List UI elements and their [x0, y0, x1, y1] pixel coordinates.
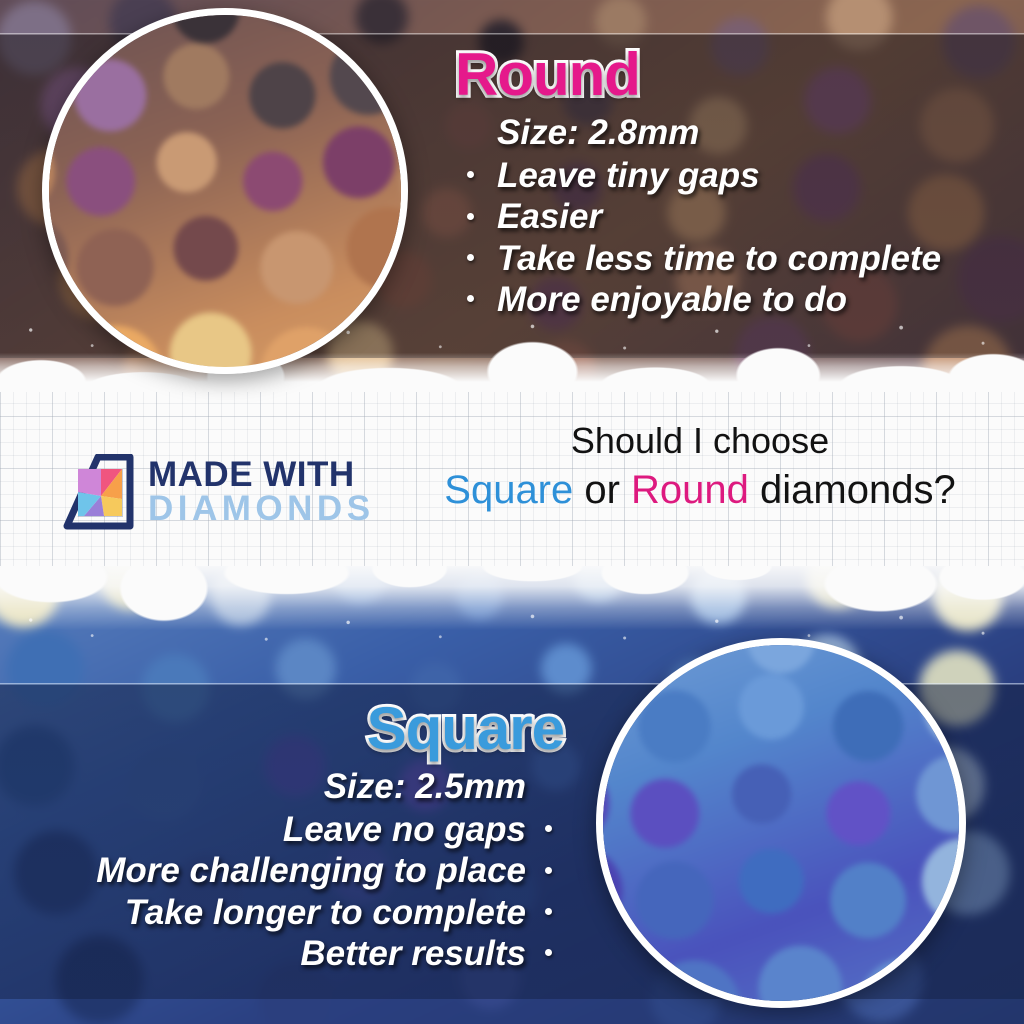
square-size-label: Size: 2.5mm	[18, 767, 564, 807]
square-text-block: Square Size: 2.5mm Leave no gaps More ch…	[18, 698, 564, 974]
infographic-canvas: Round Size: 2.8mm Leave tiny gaps Easier…	[0, 0, 1024, 1024]
square-bullet-list: Leave no gaps More challenging to place …	[18, 809, 564, 974]
square-bullet-text: Take longer to complete	[125, 893, 526, 932]
round-text-block: Round Size: 2.8mm Leave tiny gaps Easier…	[455, 44, 1015, 320]
question-square-word: Square	[444, 468, 573, 512]
question-tail: diamonds?	[749, 468, 956, 512]
brand-wordmark: MADE WITH DIAMONDS	[148, 458, 375, 525]
question-or-word: or	[573, 468, 631, 512]
bullet-dot-icon	[467, 295, 474, 302]
bullet-dot-icon	[467, 171, 474, 178]
middle-band: MADE WITH DIAMONDS Should I choose Squar…	[0, 392, 1024, 566]
question-round-word: Round	[631, 468, 749, 512]
brand-logo: MADE WITH DIAMONDS	[62, 454, 375, 530]
round-title: Round	[455, 44, 1015, 105]
list-item: Leave no gaps	[18, 809, 564, 850]
list-item: Take longer to complete	[18, 892, 564, 933]
round-size-label: Size: 2.8mm	[455, 113, 1015, 153]
round-drills-macro	[42, 8, 408, 374]
bullet-dot-icon	[467, 254, 474, 261]
round-bullet-text: More enjoyable to do	[497, 280, 847, 319]
brand-line-2: DIAMONDS	[148, 492, 375, 526]
brand-line-1: MADE WITH	[148, 458, 375, 492]
round-bullet-text: Take less time to complete	[497, 239, 941, 278]
bullet-dot-icon	[545, 825, 552, 832]
list-item: More enjoyable to do	[455, 279, 1015, 320]
round-bullet-text: Easier	[497, 197, 602, 236]
round-bullet-list: Leave tiny gaps Easier Take less time to…	[455, 155, 1015, 320]
bullet-dot-icon	[545, 867, 552, 874]
square-bullet-text: More challenging to place	[96, 851, 526, 890]
square-bullet-text: Better results	[300, 934, 526, 973]
diamond-gem-logo-icon	[62, 454, 134, 530]
list-item: Leave tiny gaps	[455, 155, 1015, 196]
square-drills-macro	[596, 638, 966, 1008]
square-title: Square	[304, 698, 564, 759]
list-item: Better results	[18, 933, 564, 974]
list-item: Take less time to complete	[455, 238, 1015, 279]
bullet-dot-icon	[467, 213, 474, 220]
square-bullet-text: Leave no gaps	[283, 810, 526, 849]
list-item: Easier	[455, 196, 1015, 237]
round-magnifier-lens	[42, 8, 408, 374]
round-bullet-text: Leave tiny gaps	[497, 156, 760, 195]
bullet-dot-icon	[545, 908, 552, 915]
list-item: More challenging to place	[18, 850, 564, 891]
question-block: Should I choose Square or Round diamonds…	[420, 420, 980, 515]
question-line-2: Square or Round diamonds?	[420, 466, 980, 515]
question-line-1: Should I choose	[420, 420, 980, 462]
bullet-dot-icon	[545, 949, 552, 956]
square-magnifier-lens	[596, 638, 966, 1008]
